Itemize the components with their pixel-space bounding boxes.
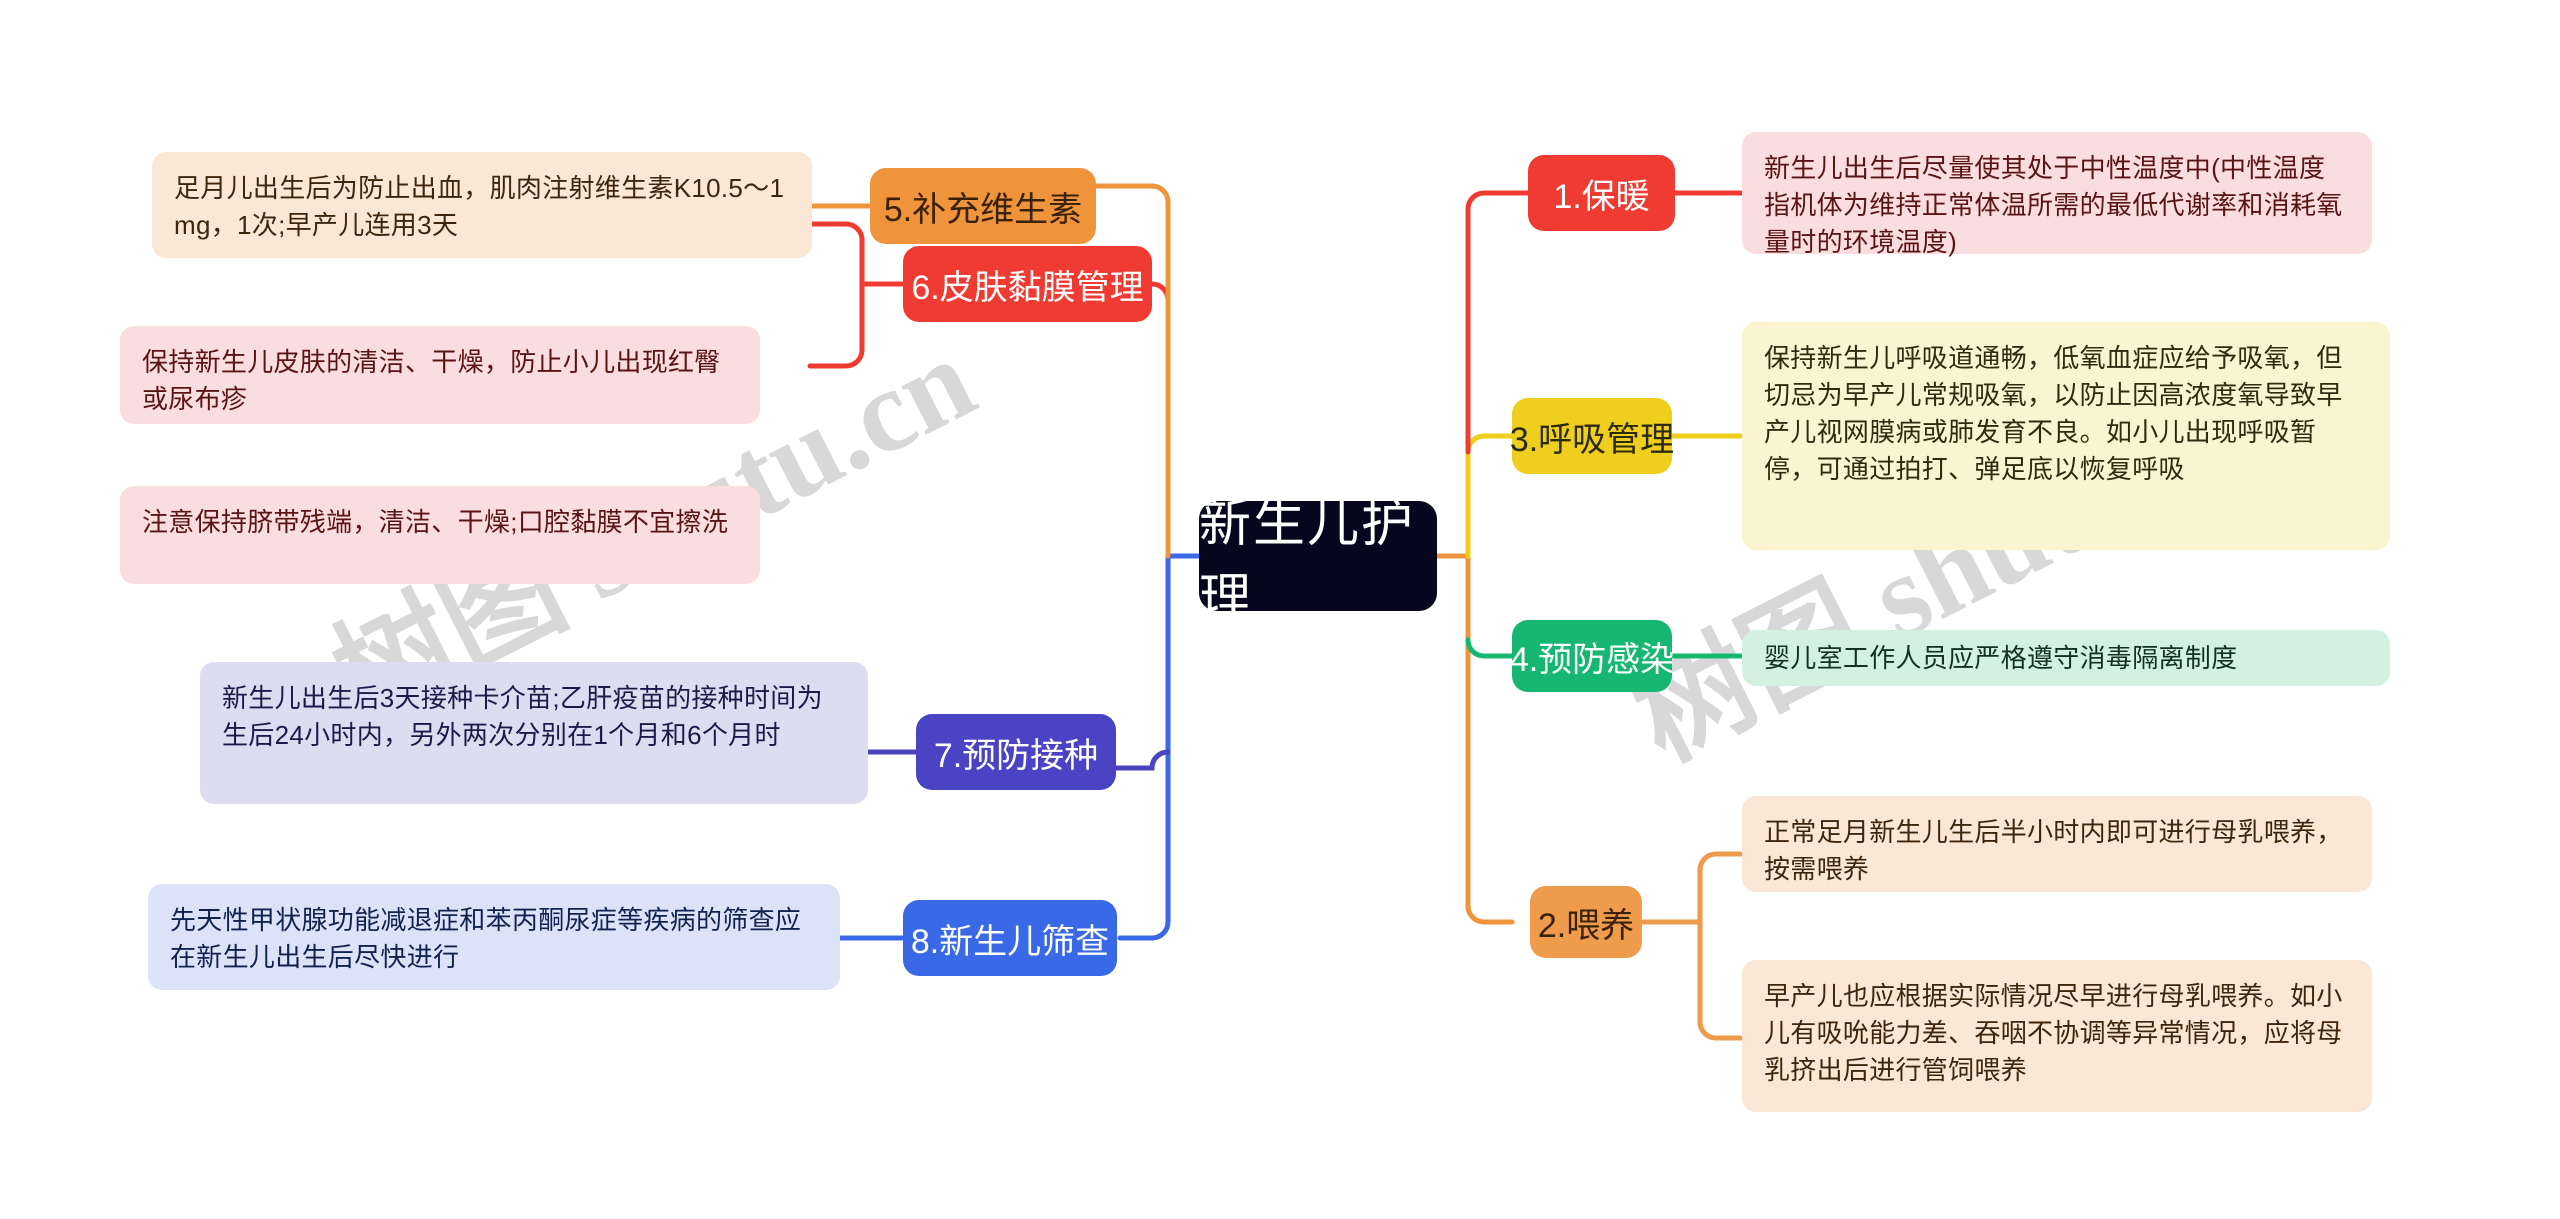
- root-label: 新生儿护理: [1199, 481, 1437, 631]
- leaf-text: 早产儿也应根据实际情况尽早进行母乳喂养。如小儿有吸吮能力差、吞咽不协调等异常情况…: [1764, 981, 2343, 1085]
- branch-badge-label: 3.呼吸管理: [1510, 412, 1674, 461]
- branch-badge-label: 7.预防接种: [934, 728, 1098, 777]
- leaf-weiyang-2[interactable]: 早产儿也应根据实际情况尽早进行母乳喂养。如小儿有吸吮能力差、吞咽不协调等异常情况…: [1742, 960, 2372, 1112]
- branch-badge-huxi[interactable]: 3.呼吸管理: [1512, 398, 1672, 474]
- leaf-weiyang-1[interactable]: 正常足月新生儿生后半小时内即可进行母乳喂养，按需喂养: [1742, 796, 2372, 892]
- leaf-shaicha-1[interactable]: 先天性甲状腺功能减退症和苯丙酮尿症等疾病的筛查应在新生儿出生后尽快进行: [148, 884, 840, 990]
- leaf-text: 保持新生儿皮肤的清洁、干燥，防止小儿出现红臀或尿布疹: [142, 347, 721, 414]
- branch-badge-label: 6.皮肤黏膜管理: [911, 260, 1143, 309]
- branch-badge-baonuan[interactable]: 1.保暖: [1528, 155, 1675, 231]
- leaf-text: 新生儿出生后尽量使其处于中性温度中(中性温度指机体为维持正常体温所需的最低代谢率…: [1764, 153, 2343, 257]
- leaf-huxi-1[interactable]: 保持新生儿呼吸道通畅，低氧血症应给予吸氧，但切忌为早产儿常规吸氧，以防止因高浓度…: [1742, 322, 2390, 550]
- root-node[interactable]: 新生儿护理: [1199, 501, 1437, 611]
- branch-badge-pifu[interactable]: 6.皮肤黏膜管理: [903, 246, 1152, 322]
- leaf-pifu-2[interactable]: 注意保持脐带残端，清洁、干燥;口腔黏膜不宜擦洗: [120, 486, 760, 584]
- branch-badge-label: 2.喂养: [1538, 898, 1634, 947]
- mindmap-canvas: 树图 shutu.cn 树图 shutu.cn: [0, 0, 2560, 1219]
- branch-badge-weishengsu[interactable]: 5.补充维生素: [870, 168, 1096, 244]
- leaf-text: 新生儿出生后3天接种卡介苗;乙肝疫苗的接种时间为生后24小时内，另外两次分别在1…: [222, 683, 823, 750]
- leaf-text: 注意保持脐带残端，清洁、干燥;口腔黏膜不宜擦洗: [142, 507, 728, 537]
- leaf-text: 足月儿出生后为防止出血，肌肉注射维生素K10.5～1mg，1次;早产儿连用3天: [174, 173, 784, 240]
- branch-badge-weiyang[interactable]: 2.喂养: [1530, 886, 1642, 958]
- branch-badge-label: 8.新生儿筛查: [911, 914, 1109, 963]
- leaf-text: 保持新生儿呼吸道通畅，低氧血症应给予吸氧，但切忌为早产儿常规吸氧，以防止因高浓度…: [1764, 343, 2343, 484]
- branch-badge-shaicha[interactable]: 8.新生儿筛查: [903, 900, 1117, 976]
- leaf-text: 婴儿室工作人员应严格遵守消毒隔离制度: [1764, 640, 2237, 677]
- leaf-baonuan-1[interactable]: 新生儿出生后尽量使其处于中性温度中(中性温度指机体为维持正常体温所需的最低代谢率…: [1742, 132, 2372, 254]
- leaf-weishengsu-1[interactable]: 足月儿出生后为防止出血，肌肉注射维生素K10.5～1mg，1次;早产儿连用3天: [152, 152, 812, 258]
- branch-badge-label: 4.预防感染: [1510, 632, 1674, 681]
- leaf-ganran-1[interactable]: 婴儿室工作人员应严格遵守消毒隔离制度: [1742, 630, 2390, 686]
- branch-badge-jiezhong[interactable]: 7.预防接种: [916, 714, 1116, 790]
- branch-badge-label: 1.保暖: [1553, 169, 1649, 218]
- branch-badge-label: 5.补充维生素: [884, 182, 1082, 231]
- leaf-pifu-1[interactable]: 保持新生儿皮肤的清洁、干燥，防止小儿出现红臀或尿布疹: [120, 326, 760, 424]
- leaf-text: 正常足月新生儿生后半小时内即可进行母乳喂养，按需喂养: [1764, 817, 2343, 884]
- branch-badge-ganran[interactable]: 4.预防感染: [1512, 620, 1672, 692]
- leaf-jiezhong-1[interactable]: 新生儿出生后3天接种卡介苗;乙肝疫苗的接种时间为生后24小时内，另外两次分别在1…: [200, 662, 868, 804]
- leaf-text: 先天性甲状腺功能减退症和苯丙酮尿症等疾病的筛查应在新生儿出生后尽快进行: [170, 905, 801, 972]
